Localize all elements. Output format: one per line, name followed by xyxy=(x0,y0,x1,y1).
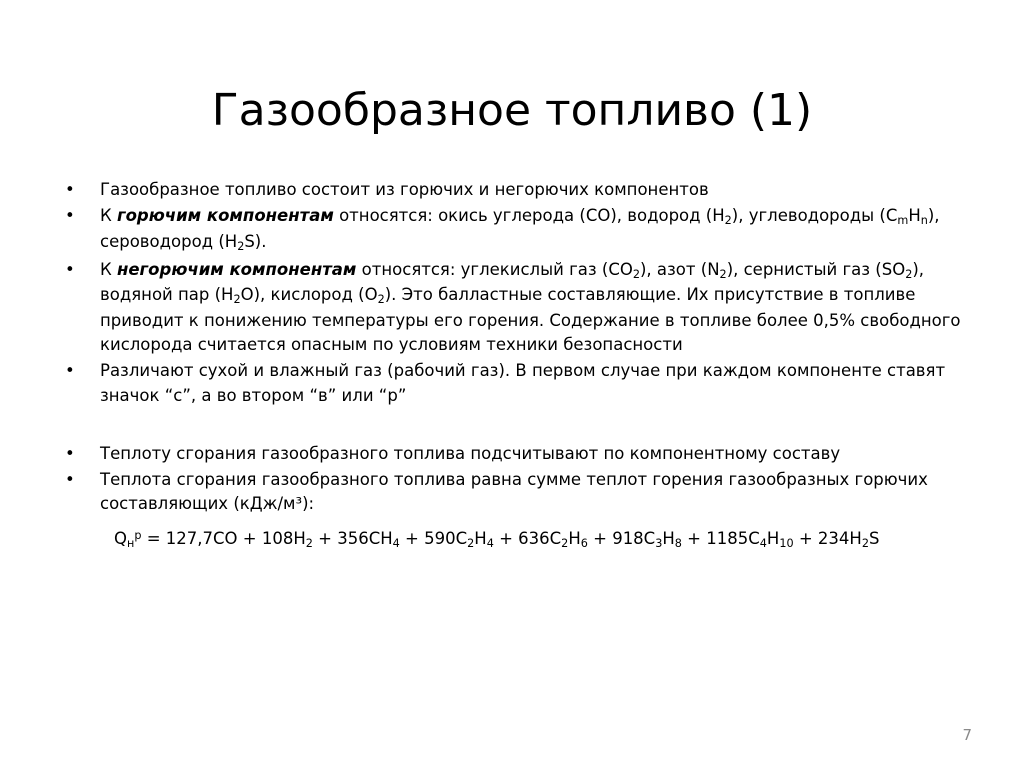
text-fragment: S). xyxy=(244,232,266,251)
text-fragment: ), азот (N xyxy=(640,260,720,279)
emphasis-text: негорючим компонентам xyxy=(117,260,356,279)
text-fragment: S xyxy=(869,529,879,548)
list-item: • Теплота сгорания газообразного топлива… xyxy=(52,468,982,517)
text-fragment: H xyxy=(767,529,779,548)
subscript: 2 xyxy=(720,268,727,281)
page-title: Газообразное топливо (1) xyxy=(0,87,1024,135)
list-item: • К негорючим компонентам относятся: угл… xyxy=(52,258,982,358)
list-item-text: Теплота сгорания газообразного топлива р… xyxy=(100,470,928,513)
subscript: 4 xyxy=(487,537,494,550)
page-number: 7 xyxy=(962,726,972,744)
text-fragment: относятся: углекислый газ (CO xyxy=(356,260,632,279)
text-fragment: + 590C xyxy=(400,529,467,548)
formula-line: Qнр = 127,7CO + 108H2 + 356CH4 + 590C2H4… xyxy=(52,527,982,553)
list-item-text: Теплоту сгорания газообразного топлива п… xyxy=(100,444,840,463)
subscript: 6 xyxy=(581,537,588,550)
bullet-marker: • xyxy=(65,258,75,282)
subscript: 2 xyxy=(233,293,240,306)
subscript: 4 xyxy=(393,537,400,550)
list-item: • К горючим компонентам относятся: окись… xyxy=(52,204,982,255)
text-fragment: К xyxy=(100,260,117,279)
subscript: m xyxy=(897,214,908,227)
text-fragment: относятся: окись углерода (CO), водород … xyxy=(334,206,725,225)
formula-symbol: Q xyxy=(114,529,127,548)
subscript: 2 xyxy=(862,537,869,550)
text-fragment: + 918C xyxy=(588,529,655,548)
bullet-marker: • xyxy=(65,442,75,466)
emphasis-text: горючим компонентам xyxy=(117,206,334,225)
text-fragment: ), углеводороды (C xyxy=(732,206,898,225)
subscript: n xyxy=(921,214,928,227)
list-item-text: К негорючим компонентам относятся: углек… xyxy=(100,260,961,355)
text-fragment: + 356CH xyxy=(313,529,393,548)
bullet-marker: • xyxy=(65,468,75,492)
text-fragment: + 1185C xyxy=(682,529,760,548)
text-fragment: H xyxy=(908,206,920,225)
slide: Газообразное топливо (1) • Газообразное … xyxy=(0,0,1024,768)
bullet-list: • Газообразное топливо состоит из горючи… xyxy=(52,178,982,517)
text-fragment: = 127,7CO + 108H xyxy=(141,529,305,548)
text-fragment: + 234H xyxy=(794,529,862,548)
list-item: • Газообразное топливо состоит из горючи… xyxy=(52,178,982,202)
text-fragment: H xyxy=(474,529,486,548)
text-fragment: ), сернистый газ (SO xyxy=(727,260,906,279)
bullet-marker: • xyxy=(65,359,75,383)
bullet-marker: • xyxy=(65,204,75,228)
subscript: 2 xyxy=(306,537,313,550)
list-item-text: К горючим компонентам относятся: окись у… xyxy=(100,206,940,251)
text-fragment: К xyxy=(100,206,117,225)
text-fragment: O), кислород (O xyxy=(241,285,378,304)
text-fragment: H xyxy=(568,529,580,548)
list-item-text: Различают сухой и влажный газ (рабочий г… xyxy=(100,361,945,404)
subscript: 2 xyxy=(725,214,732,227)
list-item: • Различают сухой и влажный газ (рабочий… xyxy=(52,359,982,408)
subscript: 8 xyxy=(675,537,682,550)
subscript: 2 xyxy=(633,268,640,281)
bullet-marker: • xyxy=(65,178,75,202)
subscript: 4 xyxy=(760,537,767,550)
text-fragment: H xyxy=(662,529,674,548)
slide-body: • Газообразное топливо состоит из горючи… xyxy=(52,178,982,552)
subscript: 10 xyxy=(779,537,793,550)
list-item-text: Газообразное топливо состоит из горючих … xyxy=(100,180,709,199)
subscript: 2 xyxy=(378,293,385,306)
text-fragment: + 636C xyxy=(494,529,561,548)
list-item: • Теплоту сгорания газообразного топлива… xyxy=(52,442,982,466)
